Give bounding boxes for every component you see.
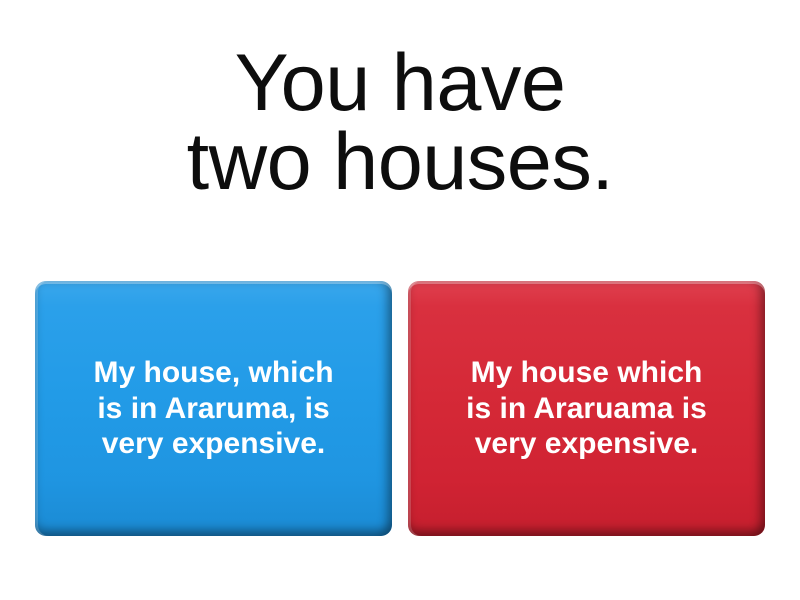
answer-option-red[interactable]: My house which is in Araruama is very ex… bbox=[408, 281, 765, 536]
answer-option-blue[interactable]: My house, which is in Araruma, is very e… bbox=[35, 281, 392, 536]
answer-options-row: My house, which is in Araruma, is very e… bbox=[0, 278, 800, 548]
question-prompt: You have two houses. bbox=[0, 44, 800, 203]
quiz-stage: You have two houses. My house, which is … bbox=[0, 0, 800, 600]
answer-option-blue-label: My house, which is in Araruma, is very e… bbox=[93, 355, 333, 461]
answer-option-red-label: My house which is in Araruama is very ex… bbox=[466, 355, 707, 461]
